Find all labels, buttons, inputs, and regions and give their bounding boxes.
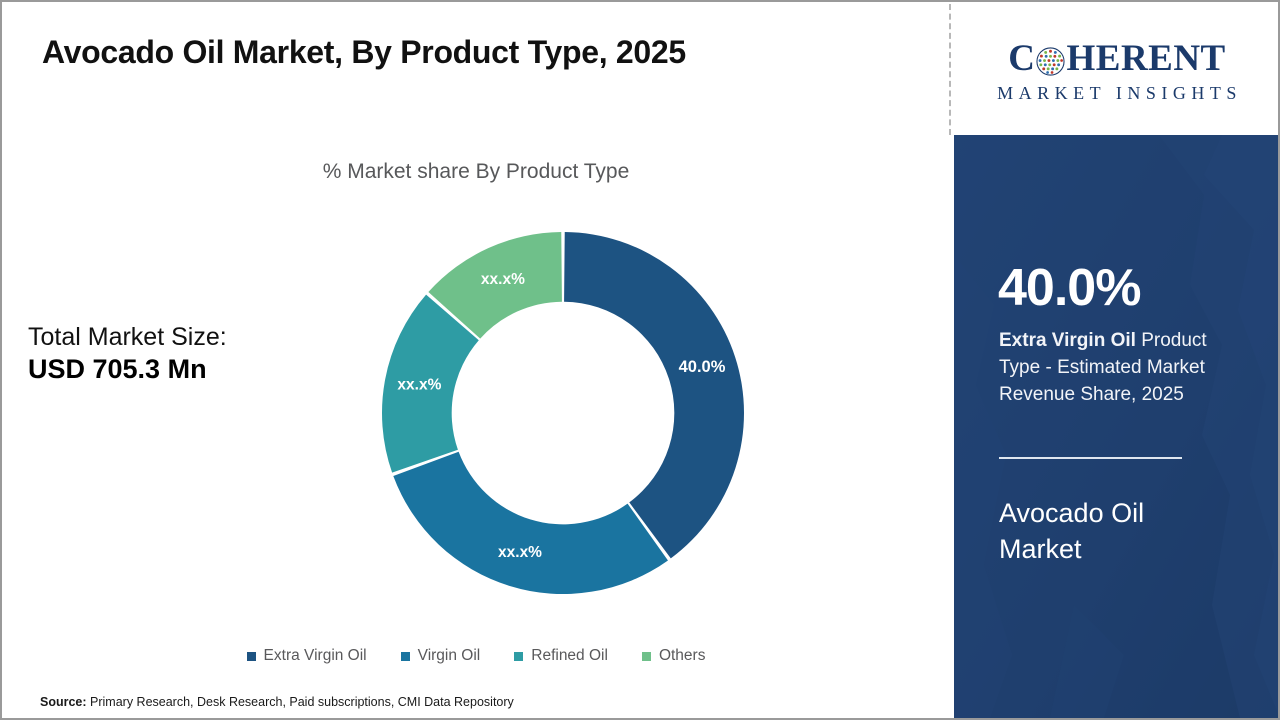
vertical-dashed-divider xyxy=(949,4,951,135)
legend-swatch-icon xyxy=(247,652,256,661)
donut-chart: 40.0%xx.x%xx.x%xx.x% xyxy=(377,227,749,599)
donut-slice-label-others: xx.x% xyxy=(481,271,525,288)
logo-wordmark: C xyxy=(1008,40,1226,77)
donut-chart-svg: 40.0%xx.x%xx.x%xx.x% xyxy=(377,227,749,599)
infographic-root: Avocado Oil Market, By Product Type, 202… xyxy=(0,0,1280,720)
legend-item-refined-oil[interactable]: Refined Oil xyxy=(514,647,608,665)
source-line: Source: Primary Research, Desk Research,… xyxy=(40,695,514,709)
globe-icon xyxy=(1036,46,1065,75)
chart-panel: Avocado Oil Market, By Product Type, 202… xyxy=(2,2,950,718)
donut-slice-label-refined-oil: xx.x% xyxy=(397,377,441,394)
donut-slice-label-virgin-oil: xx.x% xyxy=(498,544,542,561)
donut-slice-label-extra-virgin-oil: 40.0% xyxy=(679,358,726,376)
stat-description: Extra Virgin Oil Product Type - Estimate… xyxy=(999,328,1251,409)
panel-market-name: Avocado Oil Market xyxy=(999,495,1229,568)
legend-label: Refined Oil xyxy=(531,647,608,665)
logo-tagline: MARKET INSIGHTS xyxy=(992,83,1242,104)
donut-slice-extra-virgin-oil[interactable] xyxy=(564,232,744,558)
stat-description-highlight: Extra Virgin Oil xyxy=(999,330,1136,351)
sidebar-panel: C xyxy=(954,2,1280,718)
total-market-size-label: Total Market Size: xyxy=(28,322,298,353)
chart-legend: Extra Virgin OilVirgin OilRefined OilOth… xyxy=(2,647,950,665)
legend-swatch-icon xyxy=(514,652,523,661)
logo-wordmark-rest: HERENT xyxy=(1066,40,1225,77)
stat-percentage: 40.0% xyxy=(998,262,1140,314)
source-label: Source: xyxy=(40,695,87,709)
legend-item-extra-virgin-oil[interactable]: Extra Virgin Oil xyxy=(247,647,367,665)
donut-slice-virgin-oil[interactable] xyxy=(393,452,668,594)
legend-swatch-icon xyxy=(401,652,410,661)
legend-swatch-icon xyxy=(642,652,651,661)
donut-slices xyxy=(382,232,744,594)
total-market-size-block: Total Market Size: USD 705.3 Mn xyxy=(28,322,298,386)
source-text: Primary Research, Desk Research, Paid su… xyxy=(87,695,514,709)
sidebar-stat-panel: 40.0% Extra Virgin Oil Product Type - Es… xyxy=(954,135,1280,718)
legend-item-virgin-oil[interactable]: Virgin Oil xyxy=(401,647,481,665)
legend-label: Extra Virgin Oil xyxy=(264,647,367,665)
world-map-texture xyxy=(954,135,1280,718)
chart-subtitle: % Market share By Product Type xyxy=(2,160,950,184)
company-logo[interactable]: C xyxy=(954,2,1280,135)
legend-label: Others xyxy=(659,647,706,665)
legend-label: Virgin Oil xyxy=(418,647,481,665)
total-market-size-value: USD 705.3 Mn xyxy=(28,353,298,387)
page-title: Avocado Oil Market, By Product Type, 202… xyxy=(42,34,686,71)
panel-divider xyxy=(999,457,1182,459)
logo-letter-c: C xyxy=(1008,40,1035,77)
legend-item-others[interactable]: Others xyxy=(642,647,706,665)
